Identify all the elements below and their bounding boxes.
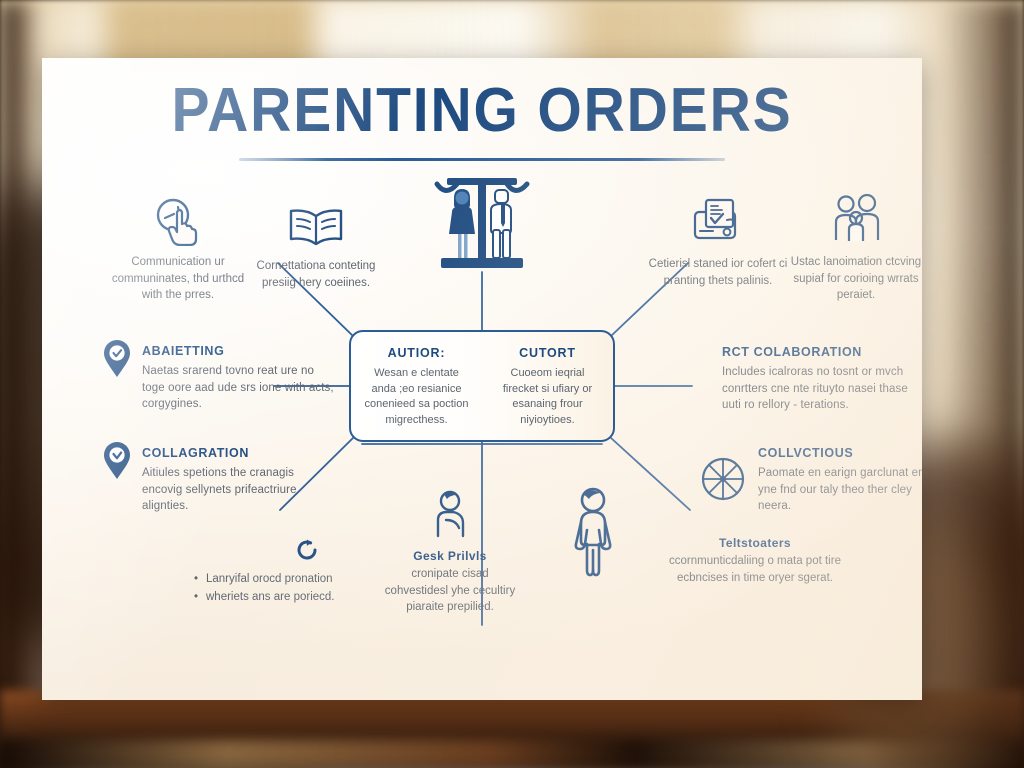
- top-item-documentation[interactable]: Cornettationa conteting presiig hery coe…: [242, 192, 390, 291]
- family-group-icon: [782, 188, 922, 246]
- title-divider: [239, 158, 725, 161]
- scales-of-justice-icon: [423, 172, 541, 274]
- page-title: PARENTING ORDERS: [77, 80, 887, 142]
- top-item-family[interactable]: Ustac lanoimation ctcving supiaf for cor…: [782, 188, 922, 304]
- open-book-icon: [242, 192, 390, 250]
- side-item-heading: ABAIETTING: [142, 344, 334, 358]
- side-item-heading: RCT COLABORATION: [722, 345, 922, 359]
- top-item-caption: Communication ur communinates, thd urthc…: [104, 254, 252, 304]
- central-box-heading: AUTIOR:: [361, 346, 472, 360]
- central-box-column-left: AUTIOR: Wesan e clentate anda ;eo resian…: [351, 332, 482, 440]
- side-item-collagration[interactable]: COLLAGRATION Aitiules spetions the crana…: [102, 446, 334, 515]
- side-item-heading: COLLAGRATION: [142, 446, 334, 460]
- bottom-item-heading: Teltstoaters: [660, 536, 850, 550]
- side-item-heading: COLLVCTIOUS: [758, 446, 922, 460]
- bottom-item-teltstoaters[interactable]: Teltstoaters ccornmunticdaliing o mata p…: [660, 536, 850, 586]
- bottom-item-body: ccornmunticdaliing o mata pot tire ecbnc…: [660, 553, 850, 586]
- scene-background: PARENTING ORDERS Communication ur commun…: [0, 0, 1024, 768]
- central-concept-box[interactable]: AUTIOR: Wesan e clentate anda ;eo resian…: [349, 330, 615, 442]
- side-item-body: Naetas srarend tovno reat ure no toge oo…: [142, 363, 334, 413]
- bottom-item-heading: Gesk Prilvls: [380, 549, 520, 563]
- central-box-heading: CUTORT: [492, 346, 603, 360]
- top-item-caption: Cornettationa conteting presiig hery coe…: [242, 258, 390, 291]
- document-checklist-printer-icon: [644, 190, 792, 248]
- pin-check-icon: [102, 340, 132, 378]
- side-item-body: Includes icalroras no tosnt or mvch conr…: [722, 364, 922, 414]
- side-item-abaietting[interactable]: ABAIETTING Naetas srarend tovno reat ure…: [102, 344, 334, 413]
- central-box-column-right: CUTORT Cuoeom ieqrial firecket si ufiary…: [482, 332, 613, 440]
- side-item-body: Aitiules spetions the cranagis encovig s…: [142, 465, 334, 515]
- top-item-communication[interactable]: Communication ur communinates, thd urthc…: [104, 188, 252, 304]
- clock-hand-pointer-icon: [104, 188, 252, 246]
- central-box-body: Cuoeom ieqrial firecket si ufiary or esa…: [492, 366, 603, 428]
- top-item-caption: Ustac lanoimation ctcving supiaf for cor…: [782, 254, 922, 304]
- top-item-caption: Cetierisl staned ior cofert ci pranting …: [644, 256, 792, 289]
- bottom-item-body: cronipate cisad cohvestidesl yhe ceculti…: [380, 566, 520, 616]
- side-item-body: Paomate en earign garclunat ent yne fnd …: [758, 465, 922, 515]
- infographic-poster: PARENTING ORDERS Communication ur commun…: [42, 58, 922, 700]
- side-item-rct-colaboration[interactable]: RCT COLABORATION Includes icalroras no t…: [722, 345, 922, 414]
- bottom-item-person[interactable]: [538, 486, 648, 583]
- pin-check-icon: [102, 442, 132, 480]
- central-box-body: Wesan e clentate anda ;eo resianice cone…: [361, 366, 472, 428]
- sitting-person-icon: [380, 486, 520, 540]
- standing-person-icon: [563, 486, 623, 583]
- top-item-document-order[interactable]: Cetierisl staned ior cofert ci pranting …: [644, 190, 792, 289]
- spoke-wheel-icon: [700, 456, 746, 502]
- title-block: PARENTING ORDERS: [42, 80, 922, 161]
- side-item-collvctious[interactable]: COLLVCTIOUS Paomate en earign garclunat …: [700, 446, 922, 515]
- bottom-item-gesk-prilvls[interactable]: Gesk Prilvls cronipate cisad cohvestides…: [380, 486, 520, 616]
